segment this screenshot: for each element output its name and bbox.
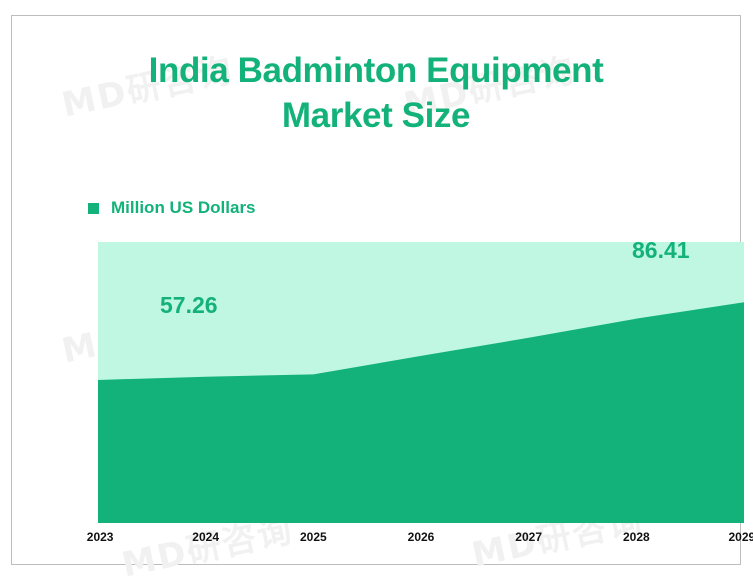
x-axis-tick-2026: 2026	[408, 530, 435, 544]
x-axis-tick-2025: 2025	[300, 530, 327, 544]
square-marker-icon	[88, 203, 99, 214]
chart-legend: Million US Dollars	[88, 198, 256, 218]
data-label-2029: 86.41	[632, 237, 690, 264]
x-axis-tick-2024: 2024	[192, 530, 219, 544]
area-chart-svg	[98, 242, 744, 523]
x-axis-tick-2028: 2028	[623, 530, 650, 544]
x-axis: 2023202420252026202720282029	[23, 530, 753, 550]
legend-item-label: Million US Dollars	[111, 198, 256, 218]
chart-title: India Badminton Equipment Market Size	[12, 49, 740, 139]
x-axis-tick-2029: 2029	[729, 530, 753, 544]
chart-title-line-2: Market Size	[12, 94, 740, 139]
chart-frame: MD研咨询 MD研咨询 MD研咨询 MD研咨询 India Badminton …	[11, 15, 741, 565]
x-axis-tick-2023: 2023	[87, 530, 114, 544]
plot-area	[98, 242, 744, 523]
data-label-2024: 57.26	[160, 292, 218, 319]
x-axis-tick-2027: 2027	[515, 530, 542, 544]
chart-title-line-1: India Badminton Equipment	[12, 49, 740, 94]
